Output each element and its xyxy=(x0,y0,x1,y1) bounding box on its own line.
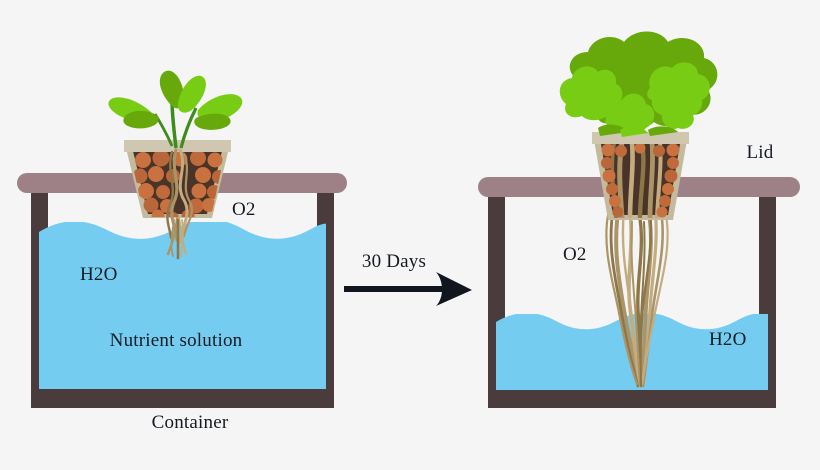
label-nutrient-solution: Nutrient solution xyxy=(110,331,243,350)
label-container: Container xyxy=(152,413,229,432)
left-seedling-foliage xyxy=(108,71,242,148)
label-o2-left: O2 xyxy=(232,200,256,219)
label-h2o-right: H2O xyxy=(709,330,747,349)
label-lid: Lid xyxy=(747,143,774,162)
label-h2o-left: H2O xyxy=(80,265,118,284)
right-net-pot xyxy=(592,132,689,220)
left-container-base xyxy=(31,388,334,408)
right-container-base xyxy=(488,388,776,408)
lettuce-light-lower-right xyxy=(661,99,694,129)
left-stage-graphics xyxy=(0,0,820,470)
label-o2-right: O2 xyxy=(563,245,587,264)
leaf-left-lower xyxy=(123,111,158,129)
hydroponics-diagram: O2 H2O Nutrient solution Container 30 Da… xyxy=(0,0,820,470)
right-lettuce-foliage xyxy=(560,32,718,138)
label-transition-days: 30 Days xyxy=(362,252,426,271)
transition-arrow xyxy=(344,272,472,306)
